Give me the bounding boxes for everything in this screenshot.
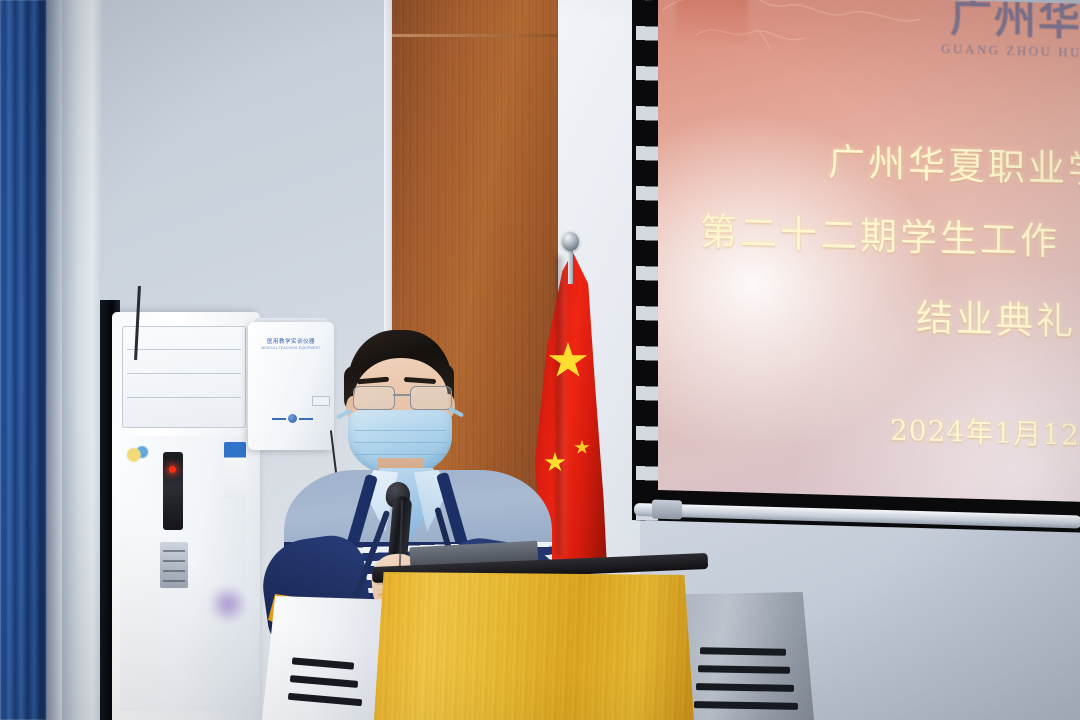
blue-curtain — [0, 0, 46, 720]
projection-screen-bar-clip — [652, 500, 682, 520]
flag-pole-finial — [562, 232, 579, 251]
screen-title-line-1: 广州华夏职业学 — [828, 132, 1080, 194]
curtain-shadow — [42, 0, 64, 720]
flag-pole — [568, 248, 573, 284]
screen-text-block: 广州华夏职业学 第二十二期学生工作 结业典礼 2024年1月12 — [658, 0, 1080, 502]
ac-energy-label — [224, 442, 246, 498]
screen-date-line: 2024年1月12 — [890, 408, 1080, 453]
ac-display-panel — [163, 452, 183, 530]
ac-power-indicator-icon — [169, 466, 176, 473]
eyeglass-lens-left — [353, 386, 395, 410]
air-conditioner — [112, 312, 260, 720]
lectern-front-panel — [374, 572, 694, 720]
eyeglass-bridge — [393, 394, 410, 396]
eyeglass-lens-right — [410, 386, 452, 410]
photo-scene: 广州华 GUANG ZHOU HU 广州华夏职业学 第二十二期学生工作 结业典礼… — [0, 0, 1080, 720]
lectern-louver — [700, 647, 786, 655]
ac-vent-louvers — [160, 542, 188, 588]
screen-title-line-3: 结业典礼 — [916, 287, 1076, 345]
screen-title-line-2: 第二十二期学生工作 — [700, 201, 1060, 265]
ac-panel-smudge — [207, 584, 249, 624]
ac-decal-sticker — [126, 444, 152, 462]
wall-column — [62, 0, 102, 720]
wood-panel-seam — [392, 34, 558, 37]
ac-air-grille — [122, 326, 246, 428]
projection-screen-surface: 广州华 GUANG ZHOU HU 广州华夏职业学 第二十二期学生工作 结业典礼… — [658, 0, 1080, 502]
projection-screen-tabs — [636, 0, 658, 521]
eyeglasses-icon — [352, 386, 452, 412]
lectern-right-panel — [672, 592, 814, 720]
